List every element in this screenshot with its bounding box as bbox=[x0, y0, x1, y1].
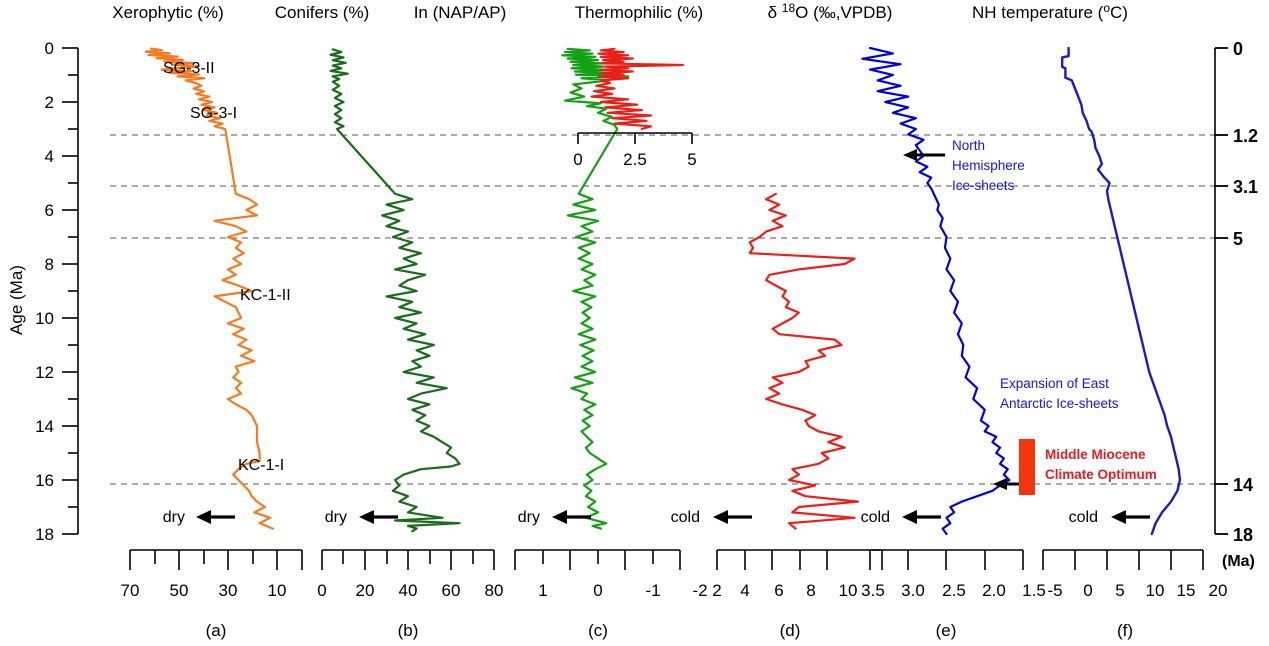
ma-unit-label: (Ma) bbox=[1222, 553, 1255, 570]
x-tick-a-50: 50 bbox=[170, 581, 189, 600]
x-tick-e-3-0: 3.0 bbox=[901, 581, 925, 600]
x-tick-e-1-5: 1.5 bbox=[1022, 581, 1046, 600]
annotation-line-ea-1: Expansion of East bbox=[1000, 376, 1109, 391]
x-tick-b-40: 40 bbox=[399, 581, 418, 600]
right-tick-0: 0 bbox=[1233, 39, 1243, 59]
panel-title-a: Xerophytic (%) bbox=[112, 3, 223, 22]
x-tick-f-10: 10 bbox=[1146, 581, 1165, 600]
x-tick-d-4: 4 bbox=[740, 581, 749, 600]
x-tick-f-0: 0 bbox=[1083, 581, 1092, 600]
right-tick-1-2: 1.2 bbox=[1233, 126, 1258, 146]
direction-label-c: dry bbox=[518, 509, 540, 526]
inset-tick-0: 0 bbox=[573, 150, 582, 169]
multi-panel-paleoclimate-figure: Xerophytic (%) Conifers (%) In (NAP/AP) … bbox=[0, 0, 1269, 646]
x-tick-d-6: 6 bbox=[774, 581, 783, 600]
panel-label-b: (b) bbox=[398, 621, 419, 640]
panel-label-d: (d) bbox=[780, 621, 801, 640]
zone-label-sg-3-i: SG-3-I bbox=[190, 105, 237, 122]
x-tick-f-5: 5 bbox=[1115, 581, 1124, 600]
x-tick-f-20: 20 bbox=[1209, 581, 1228, 600]
annotation-line-nh-1: North bbox=[952, 138, 985, 153]
direction-label-f: cold bbox=[1069, 509, 1098, 526]
x-tick-d-8: 8 bbox=[806, 581, 815, 600]
x-tick-d-2: 2 bbox=[712, 581, 721, 600]
direction-label-d: cold bbox=[671, 509, 700, 526]
x-tick-b-0: 0 bbox=[317, 581, 326, 600]
direction-label-b: dry bbox=[325, 509, 347, 526]
x-tick-a-70: 70 bbox=[121, 581, 140, 600]
right-tick-14: 14 bbox=[1233, 475, 1253, 495]
zone-label-kc-1-ii: KC-1-II bbox=[240, 287, 291, 304]
zone-label-kc-1-i: KC-1-I bbox=[238, 457, 284, 474]
x-tick-f-n5: -5 bbox=[1047, 581, 1062, 600]
direction-label-e: cold bbox=[861, 509, 890, 526]
left-tick-18: 18 bbox=[35, 525, 54, 544]
x-tick-a-10: 10 bbox=[268, 581, 287, 600]
panel-label-c: (c) bbox=[588, 621, 608, 640]
x-tick-a-30: 30 bbox=[219, 581, 238, 600]
panel-label-a: (a) bbox=[206, 621, 227, 640]
zone-label-sg-3-ii: SG-3-II bbox=[163, 60, 215, 77]
left-tick-8: 8 bbox=[45, 255, 54, 274]
panel-title-c: In (NAP/AP) bbox=[414, 3, 507, 22]
inset-tick-2-5: 2.5 bbox=[623, 150, 647, 169]
mmco-color-bar bbox=[1019, 439, 1035, 495]
left-tick-2: 2 bbox=[45, 93, 54, 112]
x-tick-e-2-5: 2.5 bbox=[942, 581, 966, 600]
x-tick-b-80: 80 bbox=[485, 581, 504, 600]
x-tick-c-n1: -1 bbox=[645, 581, 660, 600]
left-tick-16: 16 bbox=[35, 471, 54, 490]
x-tick-b-20: 20 bbox=[356, 581, 375, 600]
panel-title-b: Conifers (%) bbox=[275, 3, 369, 22]
x-tick-f-15: 15 bbox=[1177, 581, 1196, 600]
x-tick-b-60: 60 bbox=[442, 581, 461, 600]
left-tick-4: 4 bbox=[45, 147, 54, 166]
panel-label-f: (f) bbox=[1117, 621, 1133, 640]
x-tick-c-n2: -2 bbox=[692, 581, 707, 600]
left-tick-6: 6 bbox=[45, 201, 54, 220]
panel-label-e: (e) bbox=[936, 621, 957, 640]
direction-label-a: dry bbox=[163, 509, 185, 526]
annotation-line-nh-2: Hemisphere bbox=[952, 158, 1025, 173]
annotation-line-nh-3: Ice-sheets bbox=[952, 178, 1015, 193]
x-tick-d-10: 10 bbox=[839, 581, 858, 600]
inset-tick-5: 5 bbox=[687, 150, 696, 169]
annotation-line-mmco-2: Climate Optimum bbox=[1045, 467, 1157, 482]
panel-title-d: Thermophilic (%) bbox=[575, 3, 703, 22]
x-tick-e-2-0: 2.0 bbox=[982, 581, 1006, 600]
figure-canvas: Xerophytic (%) Conifers (%) In (NAP/AP) … bbox=[0, 0, 1269, 646]
y-axis-label: Age (Ma) bbox=[7, 265, 26, 335]
left-tick-10: 10 bbox=[35, 309, 54, 328]
x-tick-c-1: 1 bbox=[538, 581, 547, 600]
annotation-line-mmco-1: Middle Miocene bbox=[1045, 447, 1146, 462]
left-tick-12: 12 bbox=[35, 363, 54, 382]
left-tick-0: 0 bbox=[45, 39, 54, 58]
right-tick-5: 5 bbox=[1233, 229, 1243, 249]
x-tick-e-3-5: 3.5 bbox=[861, 581, 885, 600]
left-tick-14: 14 bbox=[35, 417, 54, 436]
x-tick-c-0: 0 bbox=[593, 581, 602, 600]
annotation-line-ea-2: Antarctic Ice-sheets bbox=[1000, 396, 1119, 411]
right-tick-3-1: 3.1 bbox=[1233, 177, 1258, 197]
right-tick-18: 18 bbox=[1233, 525, 1253, 545]
